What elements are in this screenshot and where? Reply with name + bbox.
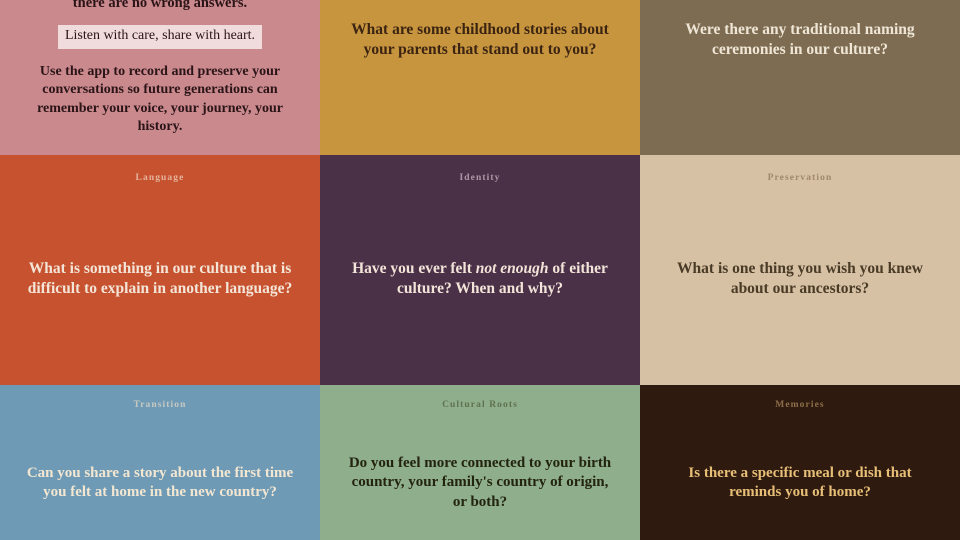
question-emphasis: not enough (476, 260, 549, 277)
question-part-pre: Have you ever felt (352, 260, 476, 277)
intro-highlight-row: Listen with care, share with heart. (0, 25, 320, 48)
question-text: Have you ever felt not enough of either … (320, 259, 640, 299)
question-area: Do you feel more connected to your birth… (320, 426, 640, 540)
question-text: What is something in our culture that is… (0, 259, 320, 299)
category-label: Memories (640, 400, 960, 410)
intro-highlight-text: Listen with care, share with heart. (58, 25, 262, 48)
question-text: Can you share a story about the first ti… (0, 464, 320, 502)
prompt-card-grid: there are no wrong answers. Listen with … (0, 0, 960, 540)
question-text: What are some childhood stories about yo… (320, 20, 640, 60)
intro-body-text: Use the app to record and preserve your … (0, 63, 320, 137)
prompt-card-cultural-roots[interactable]: Cultural Roots Do you feel more connecte… (320, 385, 640, 540)
prompt-card-identity[interactable]: Identity Have you ever felt not enough o… (320, 155, 640, 385)
question-area: Can you share a story about the first ti… (0, 426, 320, 540)
category-label: Language (0, 173, 320, 183)
question-area: What is one thing you wish you knew abou… (640, 173, 960, 385)
category-label: Identity (320, 173, 640, 183)
prompt-card-memories[interactable]: Memories Is there a specific meal or dis… (640, 385, 960, 540)
category-label: Cultural Roots (320, 400, 640, 410)
prompt-card-language[interactable]: Language What is something in our cultur… (0, 155, 320, 385)
question-area: What is something in our culture that is… (0, 173, 320, 385)
question-text: Do you feel more connected to your birth… (320, 454, 640, 512)
category-label: Preservation (640, 173, 960, 183)
question-area: Have you ever felt not enough of either … (320, 173, 640, 385)
intro-top-line: there are no wrong answers. (0, 0, 320, 12)
prompt-card-preservation[interactable]: Preservation What is one thing you wish … (640, 155, 960, 385)
prompt-card-naming-ceremonies[interactable]: Were there any traditional naming ceremo… (640, 0, 960, 155)
question-text: Were there any traditional naming ceremo… (640, 20, 960, 60)
question-area: Is there a specific meal or dish that re… (640, 426, 960, 540)
question-text: Is there a specific meal or dish that re… (640, 464, 960, 502)
category-label: Transition (0, 400, 320, 410)
prompt-card-intro[interactable]: there are no wrong answers. Listen with … (0, 0, 320, 155)
prompt-card-childhood-stories[interactable]: What are some childhood stories about yo… (320, 0, 640, 155)
prompt-card-transition[interactable]: Transition Can you share a story about t… (0, 385, 320, 540)
question-text: What is one thing you wish you knew abou… (640, 259, 960, 299)
